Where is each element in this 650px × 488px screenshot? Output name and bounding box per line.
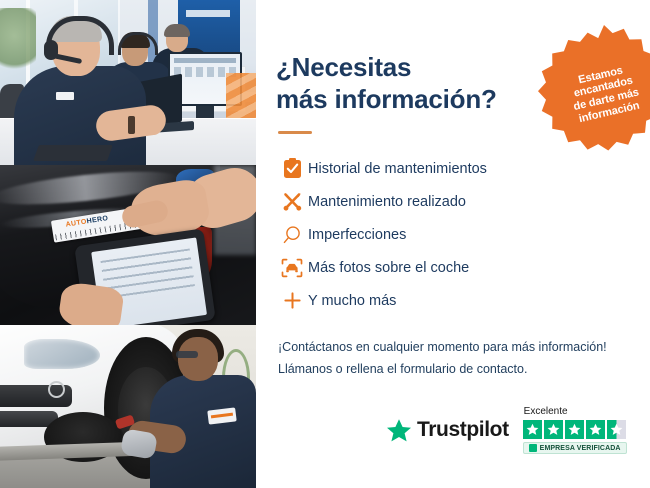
info-banner: AUTOHERO ¿Necesitas má: [0, 0, 650, 488]
photo-column: AUTOHERO: [0, 0, 256, 488]
car-inspection-ruler-photo: AUTOHERO: [0, 165, 256, 325]
trustpilot-rating-label: Excelente: [524, 406, 568, 417]
support-badge: Estamos encantados de darte más informac…: [536, 22, 650, 158]
contact-line-1: ¡Contáctanos en cualquier momento para m…: [278, 337, 628, 359]
star-5-half: [607, 420, 626, 439]
verified-check-icon: [529, 444, 537, 452]
title-divider: [278, 131, 312, 134]
trustpilot-brand-label: Trustpilot: [417, 418, 509, 442]
star-1: [523, 420, 542, 439]
feature-label: Más fotos sobre el coche: [308, 261, 469, 276]
feature-label: Imperfecciones: [308, 228, 406, 243]
title-line-2: más información?: [276, 84, 526, 116]
verified-label: EMPRESA VERIFICADA: [540, 445, 621, 452]
list-item: Más fotos sobre el coche: [276, 251, 650, 284]
support-badge-text: Estamos encantados de darte más informac…: [547, 57, 650, 131]
tools-cross-icon: [276, 191, 308, 212]
feature-list: Historial de mantenimientos M: [276, 152, 650, 317]
contact-line-2: Llámanos o rellena el formulario de cont…: [278, 359, 628, 381]
ruler-brand-hero: HERO: [86, 215, 109, 225]
list-item: Mantenimiento realizado: [276, 185, 650, 218]
trustpilot-widget[interactable]: Trustpilot Excelente: [386, 406, 627, 454]
feature-label: Historial de mantenimientos: [308, 162, 487, 177]
verified-company-badge: EMPRESA VERIFICADA: [523, 442, 627, 454]
title-line-1: ¿Necesitas: [276, 52, 411, 82]
list-item: Y mucho más: [276, 284, 650, 317]
star-3: [565, 420, 584, 439]
trustpilot-stars: [523, 420, 626, 439]
trustpilot-rating: Excelente: [523, 406, 627, 454]
star-4: [586, 420, 605, 439]
magnifier-icon: [276, 225, 308, 245]
ruler-brand-auto: AUTO: [65, 218, 87, 228]
call-center-agents-photo: [0, 0, 256, 165]
plus-icon: [276, 291, 308, 310]
trustpilot-logo[interactable]: Trustpilot: [386, 418, 509, 443]
trustpilot-star-icon: [386, 418, 412, 443]
feature-label: Y mucho más: [308, 294, 396, 309]
page-title: ¿Necesitas más información?: [276, 52, 526, 115]
feature-label: Mantenimiento realizado: [308, 195, 466, 210]
car-viewfinder-icon: [276, 258, 308, 278]
mechanic-tyre-check-photo: [0, 325, 256, 488]
clipboard-check-icon: [276, 158, 308, 179]
list-item: Imperfecciones: [276, 218, 650, 251]
ruler-brand-label: AUTOHERO: [65, 215, 109, 229]
star-2: [544, 420, 563, 439]
content-panel: ¿Necesitas más información? Historial de…: [256, 0, 650, 488]
contact-text: ¡Contáctanos en cualquier momento para m…: [278, 337, 628, 380]
